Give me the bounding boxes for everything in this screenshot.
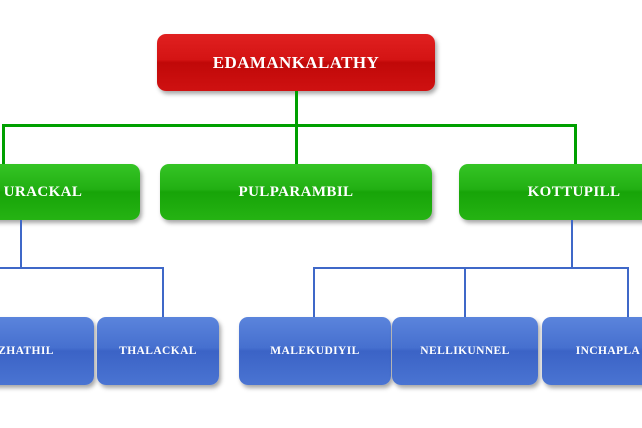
connector-root-stem [295,91,298,124]
connector-root-bus [2,124,577,127]
node-label: URACKAL [0,184,140,201]
connector-drop-inchapla [627,267,629,317]
connector-kottupill-bus [313,267,629,269]
connector-drop-pulparambil [295,124,298,164]
node-level3-malekudiyil[interactable]: MALEKUDIYIL [239,317,391,385]
node-level2-pulparambil[interactable]: PULPARAMBIL [160,164,432,220]
connector-drop-malekudiyil [313,267,315,317]
node-label: EDAMANKALATHY [157,53,435,73]
node-label: THALACKAL [97,345,219,357]
node-label: ZHATHIL [0,345,94,357]
connector-drop-nellikunnel [464,267,466,317]
node-level2-kottupill[interactable]: KOTTUPILL [459,164,642,220]
connector-kottupill-stem [571,220,573,268]
node-level2-urackal[interactable]: URACKAL [0,164,140,220]
node-label: KOTTUPILL [459,184,642,201]
connector-drop-urackal [2,124,5,164]
connector-drop-thalackal [162,267,164,317]
org-chart-canvas: EDAMANKALATHY URACKAL PULPARAMBIL KOTTUP… [0,0,642,428]
node-root-edamankalathy[interactable]: EDAMANKALATHY [157,34,435,91]
node-label: INCHAPLA [542,345,642,357]
node-level3-zhathil[interactable]: ZHATHIL [0,317,94,385]
node-label: PULPARAMBIL [160,184,432,201]
connector-drop-kottupill [574,124,577,164]
node-level3-nellikunnel[interactable]: NELLIKUNNEL [392,317,538,385]
node-label: MALEKUDIYIL [239,345,391,357]
node-level3-inchapla[interactable]: INCHAPLA [542,317,642,385]
connector-urackal-bus [0,267,164,269]
node-level3-thalackal[interactable]: THALACKAL [97,317,219,385]
connector-urackal-stem [20,220,22,268]
node-label: NELLIKUNNEL [392,345,538,357]
